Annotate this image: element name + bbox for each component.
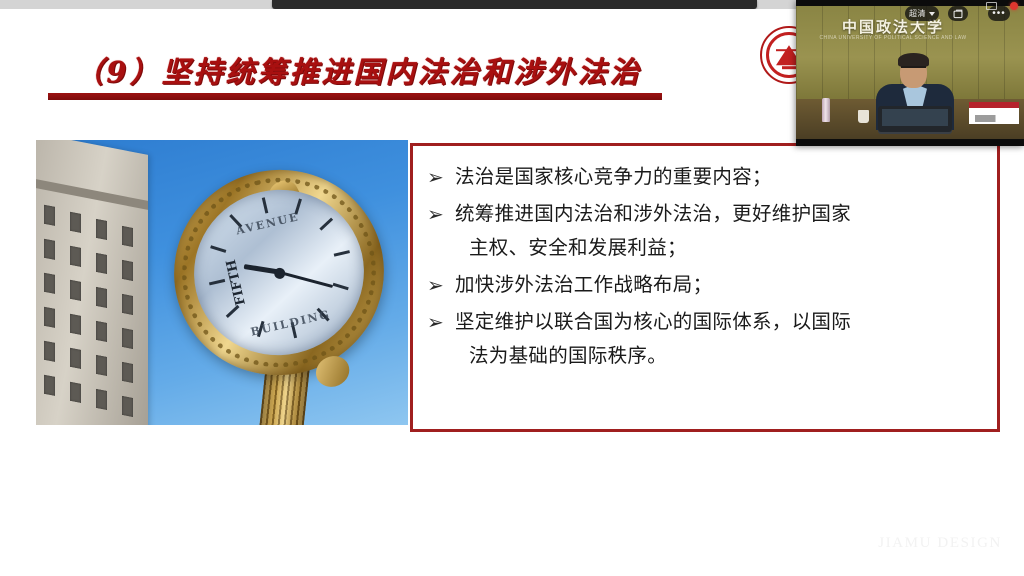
list-item: ➢ 坚定维护以联合国为核心的国际体系，以国际 法为基础的国际秩序。 (427, 305, 983, 373)
arrow-bullet-icon: ➢ (427, 197, 455, 231)
application-frame: （9）坚持统筹推进国内法治和涉外法治 (0, 0, 1024, 576)
list-item-text: 统筹推进国内法治和涉外法治，更好维护国家 主权、安全和发展利益； (455, 197, 851, 265)
list-item: ➢ 统筹推进国内法治和涉外法治，更好维护国家 主权、安全和发展利益； (427, 197, 983, 265)
water-bottle (822, 98, 830, 122)
speaker-video-feed[interactable]: 中国政法大学 CHINA UNIVERSITY OF POLITICAL SCI… (796, 6, 1024, 139)
venue-banner-title: 中国政法大学 (818, 16, 968, 37)
speaker-hair (898, 53, 929, 67)
title-underline-rule (48, 93, 662, 100)
video-quality-selector[interactable]: 超清 (905, 6, 939, 21)
speaker-nameplate (969, 102, 1019, 124)
speaker-glasses (901, 66, 926, 72)
list-item-line-1: 统筹推进国内法治和涉外法治，更好维护国家 (455, 202, 851, 225)
popout-window-icon (953, 9, 963, 19)
restore-window-icon[interactable] (986, 2, 997, 10)
list-item-line-2: 主权、安全和发展利益； (455, 231, 851, 265)
paper-cup (858, 110, 869, 123)
collapsed-meeting-toolbar[interactable] (272, 0, 757, 9)
arrow-bullet-icon: ➢ (427, 305, 455, 339)
bullet-text-box: ➢ 法治是国家核心竞争力的重要内容； ➢ 统筹推进国内法治和涉外法治，更好维护国… (410, 143, 1000, 432)
list-item-line-2: 法为基础的国际秩序。 (455, 339, 851, 373)
video-quality-label: 超清 (909, 8, 926, 19)
list-item: ➢ 加快涉外法治工作战略布局； (427, 268, 983, 302)
bullet-list: ➢ 法治是国家核心竞争力的重要内容； ➢ 统筹推进国内法治和涉外法治，更好维护国… (413, 146, 997, 373)
chevron-down-icon (929, 12, 935, 16)
slide-title: （9）坚持统筹推进国内法治和涉外法治 (48, 49, 668, 91)
fifth-avenue-building-clock-photo: AVENUE BUILDING FIFTH (36, 140, 408, 425)
laptop (878, 106, 952, 132)
list-item-text: 加快涉外法治工作战略布局； (455, 268, 712, 302)
video-conference-panel[interactable]: 中国政法大学 CHINA UNIVERSITY OF POLITICAL SCI… (796, 0, 1024, 146)
video-window-controls[interactable] (986, 1, 1020, 11)
arrow-bullet-icon: ➢ (427, 268, 455, 302)
venue-banner-subtitle: CHINA UNIVERSITY OF POLITICAL SCIENCE AN… (818, 35, 968, 41)
list-item-line-1: 坚定维护以联合国为核心的国际体系，以国际 (455, 310, 851, 333)
popout-window-button[interactable] (948, 6, 968, 21)
recording-dot-icon (1010, 2, 1018, 10)
list-item-text: 法治是国家核心竞争力的重要内容； (455, 160, 772, 194)
arrow-bullet-icon: ➢ (427, 160, 455, 194)
designer-watermark: JIAMU DESIGN (878, 535, 1002, 552)
list-item: ➢ 法治是国家核心竞争力的重要内容； (427, 160, 983, 194)
stone-building (36, 140, 148, 425)
list-item-text: 坚定维护以联合国为核心的国际体系，以国际 法为基础的国际秩序。 (455, 305, 851, 373)
